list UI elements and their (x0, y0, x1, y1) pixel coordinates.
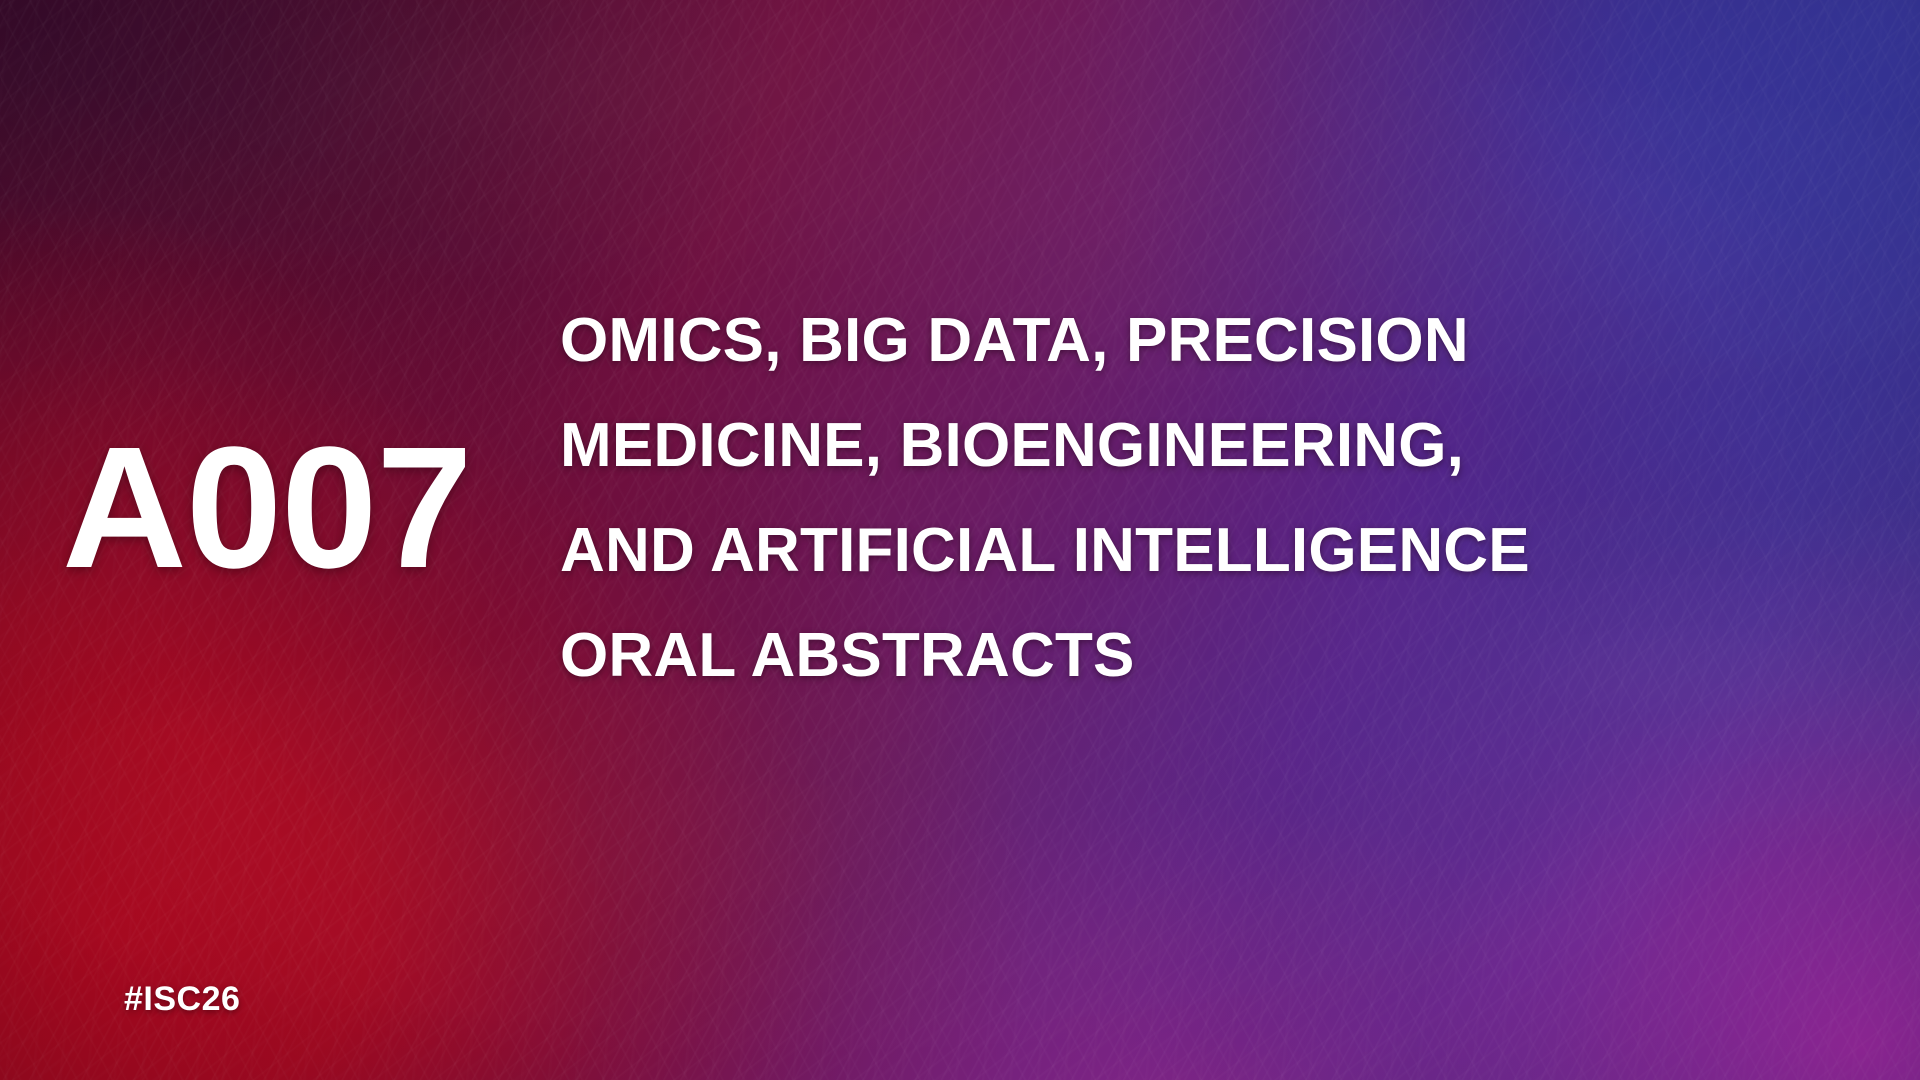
session-title-line-2: MEDICINE, BIOENGINEERING, (560, 393, 1720, 498)
title-slide: A007 OMICS, BIG DATA, PRECISION MEDICINE… (0, 0, 1920, 1080)
session-title-line-3: AND ARTIFICIAL INTELLIGENCE (560, 498, 1720, 603)
event-hashtag: #ISC26 (124, 980, 240, 1019)
session-title-line-1: OMICS, BIG DATA, PRECISION (560, 288, 1720, 393)
session-title-line-4: ORAL ABSTRACTS (560, 603, 1720, 708)
session-title: OMICS, BIG DATA, PRECISION MEDICINE, BIO… (560, 288, 1720, 708)
slide-content: A007 OMICS, BIG DATA, PRECISION MEDICINE… (0, 0, 1920, 1080)
session-code-label: A007 (62, 421, 472, 594)
